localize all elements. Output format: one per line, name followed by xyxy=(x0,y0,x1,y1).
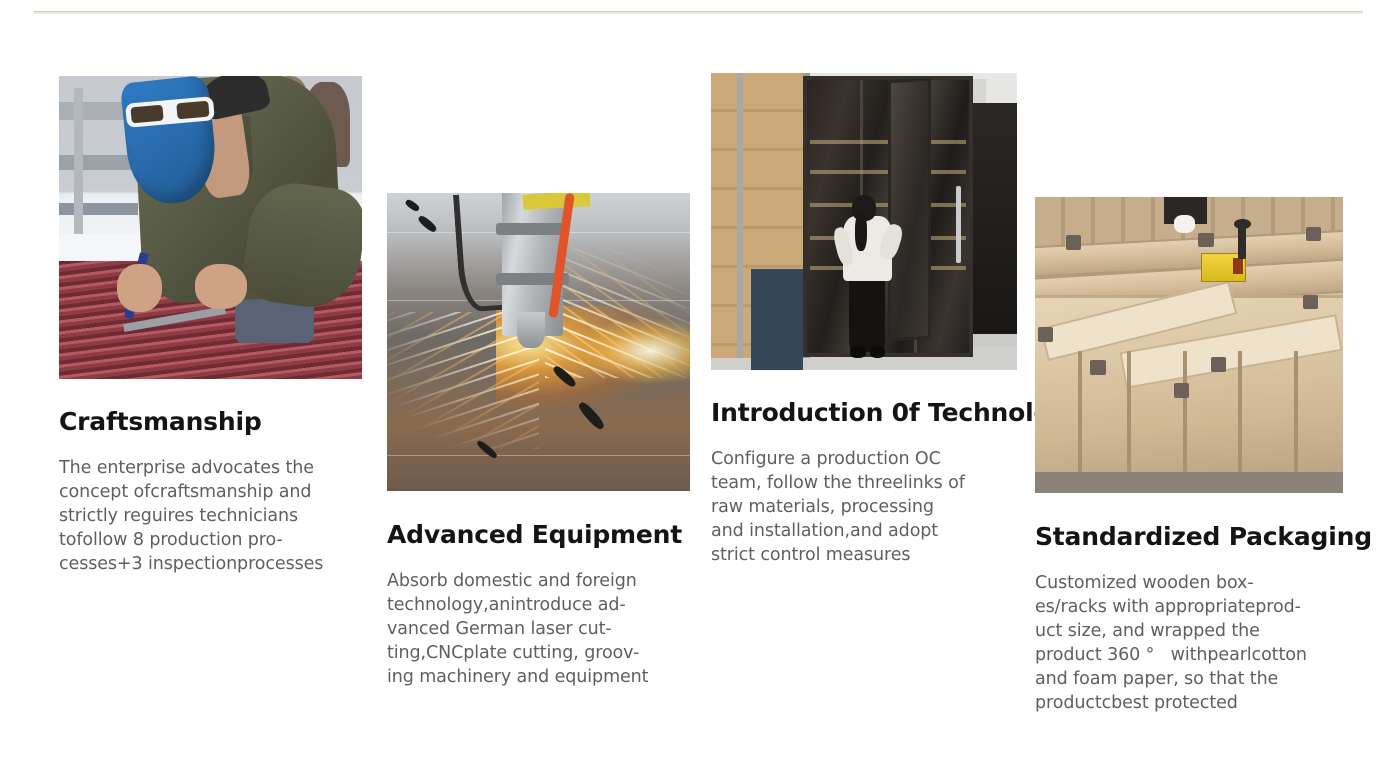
body-line: cesses+3 inspectionprocesses xyxy=(59,552,362,576)
metal-corner-bracket xyxy=(1174,383,1189,398)
body-line: team, follow the threelinks of xyxy=(711,471,1084,495)
factory-rail-shape-3 xyxy=(59,203,138,215)
body-line: uct size, and wrapped the xyxy=(1035,619,1372,643)
head-band xyxy=(496,223,569,235)
opened-door-leaf xyxy=(888,78,931,342)
body-line: ting,CNCplate cutting, groov- xyxy=(387,641,690,665)
feature-body: Absorb domestic and foreign technology,a… xyxy=(387,569,690,689)
craftsmanship-photo xyxy=(59,76,362,379)
introduction-of-technology-photo xyxy=(711,73,1017,370)
body-line: strictly reguires technicians xyxy=(59,504,362,528)
sparks-right xyxy=(545,247,690,378)
metal-corner-bracket xyxy=(1303,295,1318,310)
metal-corner-bracket xyxy=(1090,360,1105,375)
body-line: The enterprise advocates the xyxy=(59,456,362,480)
white-bag xyxy=(1174,215,1196,233)
body-line: productcbest protected xyxy=(1035,691,1372,715)
magnet-lever-handle xyxy=(1238,227,1246,260)
feature-body: Customized wooden box- es/racks with app… xyxy=(1035,571,1372,715)
visitor-shoe-right xyxy=(870,346,885,358)
machine-label xyxy=(523,193,590,210)
cut-slug xyxy=(417,214,438,234)
feature-heading: Craftsmanship xyxy=(59,408,362,437)
feature-card-craftsmanship: Craftsmanship The enterprise advocates t… xyxy=(59,76,362,576)
body-line: concept ofcraftsmanship and xyxy=(59,480,362,504)
body-line: tofollow 8 production pro- xyxy=(59,528,362,552)
worker-right-hand xyxy=(195,264,247,309)
steel-plate-seam-3 xyxy=(387,455,690,456)
visitor-ponytail xyxy=(855,213,867,252)
feature-heading: Standardized Packaging xyxy=(1035,523,1372,552)
feature-heading: Advanced Equipment xyxy=(387,521,690,550)
cut-slug xyxy=(405,198,421,212)
visitor-shoe-left xyxy=(850,346,865,358)
feature-heading: Introduction 0f Technology xyxy=(711,399,1084,428)
visitor-legs xyxy=(849,275,886,352)
body-line: technology,anintroduce ad- xyxy=(387,593,690,617)
advanced-equipment-photo xyxy=(387,193,690,491)
factory-post-shape xyxy=(74,88,83,233)
worker-left-hand xyxy=(117,264,162,312)
metal-corner-bracket xyxy=(1198,233,1213,248)
body-line: strict control measures xyxy=(711,543,1084,567)
door-handle xyxy=(956,186,961,263)
feature-card-advanced-equipment: Advanced Equipment Absorb domestic and f… xyxy=(387,193,690,689)
feature-body: Configure a production OC team, follow t… xyxy=(711,447,1084,567)
body-line: and installation,and adopt xyxy=(711,519,1084,543)
feature-card-introduction-of-technology: Introduction 0f Technology Configure a p… xyxy=(711,73,1084,567)
feature-body: The enterprise advocates the concept ofc… xyxy=(59,456,362,576)
standardized-packaging-photo xyxy=(1035,197,1343,493)
body-line: product 360 ° withpearlcotton xyxy=(1035,643,1372,667)
metal-corner-bracket xyxy=(1038,327,1053,342)
body-line: ing machinery and equipment xyxy=(387,665,690,689)
metal-corner-bracket xyxy=(1066,235,1081,250)
laser-nozzle xyxy=(517,312,544,348)
metal-corner-bracket xyxy=(1211,357,1226,372)
body-line: and foam paper, so that the xyxy=(1035,667,1372,691)
body-line: Absorb domestic and foreign xyxy=(387,569,690,593)
body-line: Configure a production OC xyxy=(711,447,1084,471)
body-line: es/racks with appropriateprod- xyxy=(1035,595,1372,619)
metal-corner-bracket xyxy=(1306,227,1321,242)
body-line: Customized wooden box- xyxy=(1035,571,1372,595)
metal-frame xyxy=(711,73,810,358)
top-divider-rule xyxy=(34,11,1363,14)
warehouse-floor xyxy=(1035,472,1343,493)
body-line: vanced German laser cut- xyxy=(387,617,690,641)
body-line: raw materials, processing xyxy=(711,495,1084,519)
feature-card-standardized-packaging: Standardized Packaging Customized wooden… xyxy=(1035,197,1372,715)
